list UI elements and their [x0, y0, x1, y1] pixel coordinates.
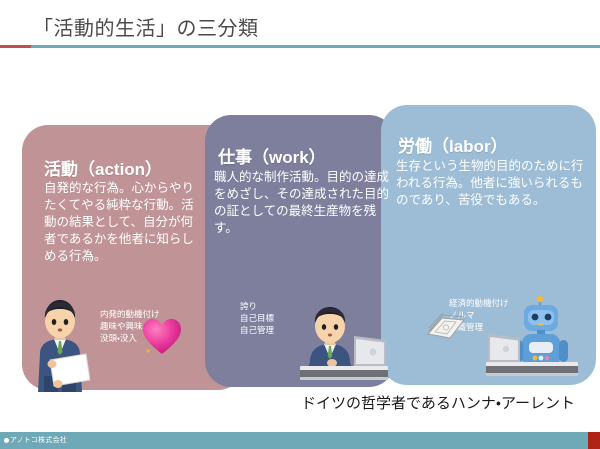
footer-bar: [0, 432, 600, 449]
slide-canvas: 「活動的生活」の三分類 活動（action） 自発的な行為。心からやりたくてやる…: [0, 0, 600, 449]
page-title: 「活動的生活」の三分類: [33, 12, 259, 41]
footer-accent: [588, 432, 600, 449]
robot-at-laptop-icon: [484, 296, 580, 380]
logo-dot-icon: [4, 438, 9, 443]
panel-work-keywords: 誇り 自己目標 自己管理: [240, 300, 274, 336]
slide-caption: ドイツの哲学者であるハンナ・アーレント: [301, 392, 575, 413]
panel-work-heading: 仕事（work）: [218, 143, 326, 168]
panel-action-body: 自発的な行為。心からやりたくてやる純粋な行動。活動の結果として、自分が何者である…: [44, 180, 204, 265]
person-at-laptop-icon: [298, 306, 390, 382]
title-rule: [0, 45, 600, 48]
panel-action-heading: 活動（action）: [44, 155, 162, 180]
title-rule-accent: [0, 45, 31, 48]
panel-labor-body: 生存という生物的目的のために行われる行為。他者に強いられるものであり、苦役でもあ…: [396, 158, 584, 209]
footer-company-logo: アノトコ株式会社: [4, 435, 67, 445]
panel-labor-heading: 労働（labor）: [398, 132, 508, 157]
banknotes-icon: [426, 312, 466, 344]
person-with-document-icon: [30, 296, 90, 392]
footer-company-name: アノトコ株式会社: [10, 437, 67, 444]
heart-icon: [142, 318, 182, 356]
panel-work-body: 職人的な制作活動。目的の達成をめざし、その達成された目的の証としての最終生産物を…: [214, 169, 390, 237]
